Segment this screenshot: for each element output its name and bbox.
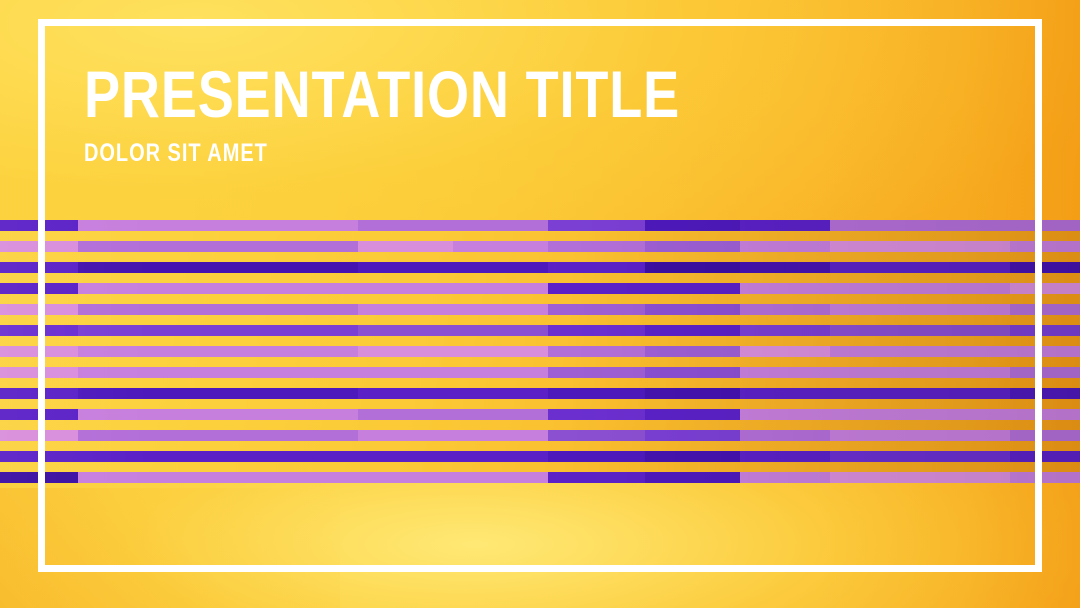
- band-cell: [740, 262, 830, 273]
- band-cell: [1010, 430, 1080, 441]
- band-cell: [1010, 304, 1080, 315]
- band-row: [0, 367, 1080, 378]
- band-cell: [548, 346, 645, 357]
- band-cell: [925, 325, 1010, 336]
- band-cell: [78, 304, 172, 315]
- band-cell: [740, 388, 830, 399]
- band-cell: [1010, 409, 1080, 420]
- band-cell: [78, 346, 172, 357]
- band-cell: [78, 241, 172, 252]
- band-cell: [0, 262, 45, 273]
- band-cell: [925, 262, 1010, 273]
- band-cell: [45, 304, 78, 315]
- band-row: [0, 241, 1080, 252]
- band-cell: [265, 472, 358, 483]
- band-cell: [358, 472, 453, 483]
- band-cell: [358, 388, 453, 399]
- band-cell: [740, 430, 830, 441]
- band-cell: [358, 220, 453, 231]
- band-cell: [453, 241, 548, 252]
- band-cell: [172, 346, 265, 357]
- band-cell: [1010, 388, 1080, 399]
- band-cell: [172, 367, 265, 378]
- band-cell: [265, 304, 358, 315]
- band-row: [0, 430, 1080, 441]
- band-cell: [453, 472, 548, 483]
- band-cell: [925, 241, 1010, 252]
- band-cell: [548, 220, 645, 231]
- band-cell: [645, 262, 740, 273]
- band-cell: [45, 388, 78, 399]
- band-cell: [172, 430, 265, 441]
- band-cell: [830, 388, 925, 399]
- band-cell: [925, 346, 1010, 357]
- page-title: PRESENTATION TITLE: [84, 62, 707, 127]
- band-cell: [78, 472, 172, 483]
- band-cell: [78, 283, 172, 294]
- band-cell: [172, 283, 265, 294]
- band-cell: [172, 451, 265, 462]
- band-cell: [645, 367, 740, 378]
- band-cell: [358, 304, 453, 315]
- band-row: [0, 262, 1080, 273]
- band-cell: [830, 325, 925, 336]
- band-cell: [0, 241, 45, 252]
- page-subtitle: DOLOR SIT AMET: [84, 141, 692, 166]
- band-cell: [830, 367, 925, 378]
- band-cell: [548, 451, 645, 462]
- band-cell: [78, 388, 172, 399]
- band-cell: [925, 409, 1010, 420]
- band-cell: [265, 325, 358, 336]
- band-cell: [925, 367, 1010, 378]
- band-row: [0, 409, 1080, 420]
- band-cell: [453, 283, 548, 294]
- band-cell: [1010, 325, 1080, 336]
- band-cell: [740, 241, 830, 252]
- background-shade-bottom-left: [0, 488, 340, 608]
- band-row: [0, 451, 1080, 462]
- band-cell: [265, 346, 358, 357]
- band-cell: [645, 220, 740, 231]
- band-cell: [1010, 346, 1080, 357]
- band-cell: [830, 241, 925, 252]
- band-cell: [740, 220, 830, 231]
- band-cell: [830, 430, 925, 441]
- band-cell: [0, 388, 45, 399]
- band-cell: [453, 367, 548, 378]
- band-cell: [925, 283, 1010, 294]
- band-cell: [645, 325, 740, 336]
- band-cell: [45, 325, 78, 336]
- band-cell: [172, 409, 265, 420]
- band-cell: [925, 451, 1010, 462]
- band-cell: [0, 346, 45, 357]
- band-cell: [453, 388, 548, 399]
- band-cell: [172, 304, 265, 315]
- band-cell: [1010, 451, 1080, 462]
- band-cell: [0, 283, 45, 294]
- band-row: [0, 220, 1080, 231]
- band-cell: [172, 388, 265, 399]
- band-cell: [358, 367, 453, 378]
- band-row: [0, 472, 1080, 483]
- band-cell: [265, 388, 358, 399]
- band-cell: [0, 451, 45, 462]
- band-cell: [453, 325, 548, 336]
- band-cell: [830, 304, 925, 315]
- band-cell: [645, 241, 740, 252]
- band-cell: [740, 409, 830, 420]
- band-cell: [548, 388, 645, 399]
- band-cell: [0, 409, 45, 420]
- band-cell: [548, 472, 645, 483]
- band-cell: [265, 451, 358, 462]
- band-cell: [265, 430, 358, 441]
- band-cell: [45, 430, 78, 441]
- band-cell: [358, 283, 453, 294]
- band-cell: [830, 220, 925, 231]
- band-cell: [358, 430, 453, 441]
- band-cell: [265, 262, 358, 273]
- band-cell: [645, 346, 740, 357]
- band-cell: [78, 409, 172, 420]
- band-cell: [358, 241, 453, 252]
- band-cell: [45, 472, 78, 483]
- band-cell: [0, 430, 45, 441]
- band-cell: [453, 451, 548, 462]
- band-cell: [78, 430, 172, 441]
- band-cell: [0, 304, 45, 315]
- band-cell: [172, 241, 265, 252]
- band-cell: [645, 283, 740, 294]
- band-cell: [1010, 367, 1080, 378]
- band-row: [0, 283, 1080, 294]
- band-cell: [548, 262, 645, 273]
- band-cell: [453, 220, 548, 231]
- band-cell: [45, 409, 78, 420]
- band-cell: [78, 262, 172, 273]
- band-cell: [645, 430, 740, 441]
- striped-graphic-band: [0, 220, 1080, 483]
- band-cell: [830, 346, 925, 357]
- band-cell: [830, 472, 925, 483]
- band-cell: [453, 346, 548, 357]
- band-cell: [78, 325, 172, 336]
- band-cell: [78, 451, 172, 462]
- band-cell: [830, 262, 925, 273]
- band-cell: [265, 409, 358, 420]
- band-cell: [45, 262, 78, 273]
- band-cell: [645, 388, 740, 399]
- band-cell: [740, 451, 830, 462]
- band-cell: [548, 367, 645, 378]
- band-cell: [740, 346, 830, 357]
- band-cell: [0, 367, 45, 378]
- band-cell: [925, 304, 1010, 315]
- band-cell: [548, 283, 645, 294]
- band-cell: [172, 262, 265, 273]
- band-cell: [0, 220, 45, 231]
- band-cell: [1010, 262, 1080, 273]
- band-cell: [45, 241, 78, 252]
- band-cell: [45, 220, 78, 231]
- band-cell: [830, 409, 925, 420]
- band-cell: [358, 325, 453, 336]
- band-cell: [925, 388, 1010, 399]
- band-cell: [453, 409, 548, 420]
- band-cell: [45, 367, 78, 378]
- band-cell: [1010, 283, 1080, 294]
- band-cell: [645, 472, 740, 483]
- band-cell: [548, 430, 645, 441]
- band-cell: [645, 451, 740, 462]
- band-cell: [645, 304, 740, 315]
- band-cell: [78, 220, 172, 231]
- band-cell: [453, 304, 548, 315]
- band-cell: [548, 241, 645, 252]
- band-cell: [740, 472, 830, 483]
- band-row: [0, 388, 1080, 399]
- band-cell: [265, 220, 358, 231]
- band-cell: [172, 325, 265, 336]
- title-text-block: PRESENTATION TITLE DOLOR SIT AMET: [84, 62, 844, 166]
- band-cell: [172, 472, 265, 483]
- band-cell: [358, 346, 453, 357]
- band-cell: [1010, 220, 1080, 231]
- band-cell: [645, 409, 740, 420]
- band-cell: [548, 409, 645, 420]
- band-row: [0, 346, 1080, 357]
- band-cell: [0, 325, 45, 336]
- band-cell: [45, 451, 78, 462]
- band-cell: [265, 283, 358, 294]
- band-cell: [740, 283, 830, 294]
- band-cell: [45, 283, 78, 294]
- band-cell: [358, 451, 453, 462]
- band-cell: [830, 451, 925, 462]
- band-cell: [0, 472, 45, 483]
- band-row: [0, 304, 1080, 315]
- band-cell: [548, 325, 645, 336]
- band-cell: [925, 430, 1010, 441]
- band-cell: [172, 220, 265, 231]
- band-cell: [358, 262, 453, 273]
- band-cell: [830, 283, 925, 294]
- band-cell: [1010, 241, 1080, 252]
- band-cell: [265, 367, 358, 378]
- band-row: [0, 325, 1080, 336]
- band-cell: [925, 220, 1010, 231]
- band-cell: [265, 241, 358, 252]
- band-cell: [453, 430, 548, 441]
- presentation-slide: PRESENTATION TITLE DOLOR SIT AMET: [0, 0, 1080, 608]
- band-cell: [78, 367, 172, 378]
- band-cell: [925, 472, 1010, 483]
- band-cell: [548, 304, 645, 315]
- band-cell: [740, 304, 830, 315]
- band-cell: [740, 325, 830, 336]
- band-cell: [1010, 472, 1080, 483]
- band-cell: [45, 346, 78, 357]
- band-cell: [358, 409, 453, 420]
- band-cell: [740, 367, 830, 378]
- band-cell: [453, 262, 548, 273]
